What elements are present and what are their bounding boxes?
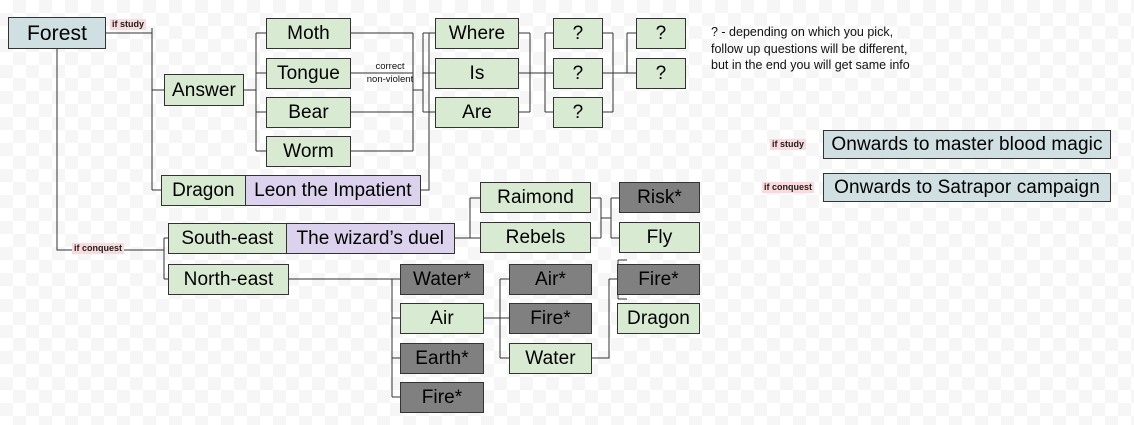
node-tongue[interactable]: Tongue [266,58,351,89]
node-moth-label: Moth [287,24,330,43]
node-dragon-leon-pair[interactable]: Dragon Leon the Impatient [161,175,421,206]
node-fire-star-2[interactable]: Fire* [509,303,592,334]
node-onwards-satrapor-label: Onwards to Satrapor campaign [834,178,1100,197]
edge-label-if-study-root: if study [110,19,146,30]
node-water-star-label: Water* [413,270,471,289]
edge-label-if-conquest-root: if conquest [72,243,124,254]
node-fire-star-3-label: Fire* [638,270,679,289]
node-question-3[interactable]: ? [553,97,603,128]
node-air-label: Air [430,309,454,328]
node-southeast-duel-pair[interactable]: South-east The wizard’s duel [168,223,455,254]
node-forest-label: Forest [27,23,87,44]
node-question-2-label: ? [573,64,584,83]
node-rebels-label: Rebels [506,228,566,247]
node-question-5-label: ? [656,64,667,83]
node-south-east[interactable]: South-east [169,224,287,253]
node-moth[interactable]: Moth [266,18,351,49]
node-air[interactable]: Air [400,303,484,334]
edge-label-if-study-outcome: if study [770,139,806,150]
node-bear[interactable]: Bear [266,97,351,128]
node-dragon-choice[interactable]: Dragon [162,176,246,205]
node-is[interactable]: Is [435,58,519,89]
node-fire-star-1-label: Fire* [422,388,463,407]
node-where-label: Where [449,24,505,43]
node-question-3-label: ? [573,103,584,122]
node-south-east-label: South-east [181,228,273,250]
node-fire-star-3[interactable]: Fire* [617,264,700,295]
node-rebels[interactable]: Rebels [480,222,591,253]
node-air-star-label: Air* [535,270,566,289]
edge-label-if-conquest-outcome: if conquest [762,182,814,193]
node-fire-star-1[interactable]: Fire* [400,382,484,413]
node-question-2[interactable]: ? [553,58,603,89]
node-water-label: Water [525,349,575,368]
node-answer-label: Answer [172,81,236,100]
node-onwards-blood-magic[interactable]: Onwards to master blood magic [823,130,1111,159]
edge-label-non-violent: non-violent [356,74,424,85]
node-onwards-satrapor[interactable]: Onwards to Satrapor campaign [823,173,1111,202]
node-leon-label: Leon the Impatient [254,180,411,202]
node-fly-label: Fly [647,228,673,247]
node-question-4[interactable]: ? [636,18,686,49]
node-risk[interactable]: Risk* [619,182,700,213]
node-water[interactable]: Water [509,343,592,374]
flowchart-canvas: Forest if study if conquest Answer Moth … [0,0,1134,425]
node-wizards-duel[interactable]: The wizard’s duel [287,224,454,253]
node-wizards-duel-label: The wizard’s duel [297,228,445,250]
node-dragon-choice-label: Dragon [172,180,234,202]
node-are[interactable]: Are [435,97,519,128]
node-question-4-label: ? [656,24,667,43]
node-bear-label: Bear [288,103,329,122]
node-are-label: Are [462,103,492,122]
node-leon-the-impatient[interactable]: Leon the Impatient [246,176,420,205]
node-onwards-blood-magic-label: Onwards to master blood magic [831,135,1102,154]
node-answer[interactable]: Answer [164,74,244,106]
node-question-1[interactable]: ? [553,18,603,49]
node-worm[interactable]: Worm [266,136,351,167]
node-water-star[interactable]: Water* [400,264,484,295]
node-dragon-elemental-label: Dragon [627,309,690,328]
question-mark-note: ? - depending on which you pick, follow … [711,24,971,74]
node-earth-star[interactable]: Earth* [400,343,484,374]
node-question-1-label: ? [573,24,584,43]
node-air-star[interactable]: Air* [509,264,592,295]
node-earth-star-label: Earth* [415,349,468,368]
node-tongue-label: Tongue [277,64,340,83]
node-fly[interactable]: Fly [619,222,700,253]
node-raimond[interactable]: Raimond [480,182,591,213]
node-north-east[interactable]: North-east [168,264,289,295]
node-fire-star-2-label: Fire* [530,309,571,328]
node-raimond-label: Raimond [497,188,574,207]
node-north-east-label: North-east [184,270,274,289]
node-where[interactable]: Where [435,18,519,49]
node-is-label: Is [470,64,485,83]
node-worm-label: Worm [283,142,334,161]
node-question-5[interactable]: ? [636,58,686,89]
node-risk-label: Risk* [637,188,682,207]
node-dragon-elemental[interactable]: Dragon [617,303,700,334]
edge-label-correct: correct [365,61,415,72]
node-forest[interactable]: Forest [8,17,106,49]
